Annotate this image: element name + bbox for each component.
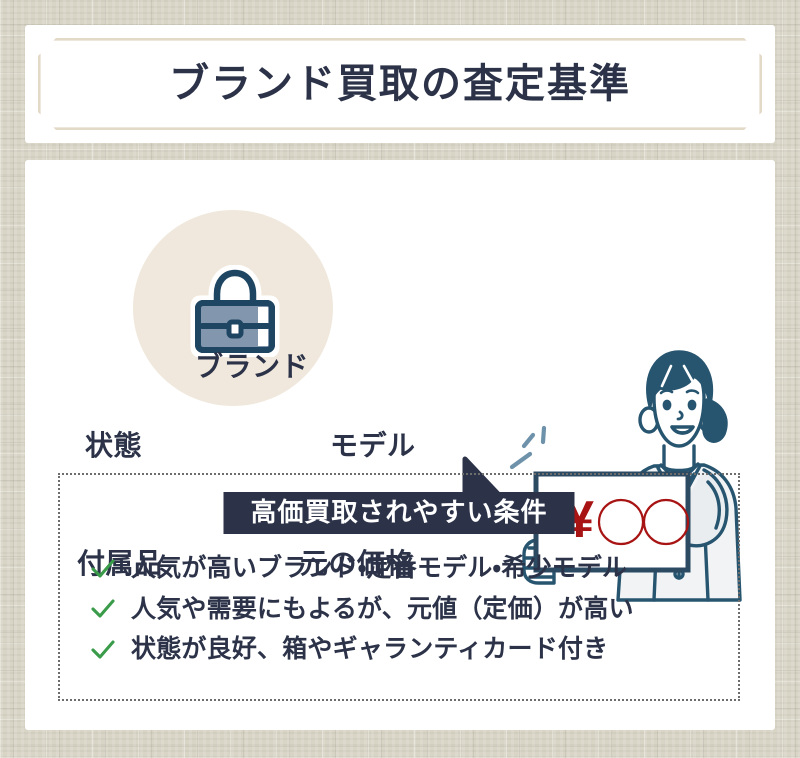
- check-icon: [90, 556, 116, 582]
- assessment-criteria-illustration: ブランド 状態 モデル 付属品 元の価格: [25, 160, 775, 450]
- handbag-icon: [190, 265, 280, 357]
- conditions-list: 人気が高いブランド・定番モデル・希少モデル 人気や需要にもよるが、元値（定価）が…: [90, 555, 730, 664]
- condition-text: 人気が高いブランド・定番モデル・希少モデル: [131, 555, 627, 583]
- list-item: 人気や需要にもよるが、元値（定価）が高い: [90, 596, 730, 624]
- page-title: ブランド買取の査定基準: [25, 25, 775, 143]
- keyword-state: 状態: [85, 432, 142, 460]
- check-icon: [90, 637, 116, 663]
- check-icon: [90, 596, 116, 622]
- main-card: ブランド 状態 モデル 付属品 元の価格: [25, 160, 775, 730]
- conditions-panel: 高価買取されやすい条件 人気が高いブランド・定番モデル・希少モデル 人気や需要に…: [58, 473, 740, 701]
- list-item: 状態が良好、箱やギャランティカード付き: [90, 636, 730, 664]
- header-card: ブランド買取の査定基準: [25, 25, 775, 143]
- condition-text: 状態が良好、箱やギャランティカード付き: [131, 636, 608, 664]
- conditions-heading: 高価買取されやすい条件: [223, 492, 574, 534]
- condition-text: 人気や需要にもよるが、元値（定価）が高い: [131, 596, 634, 624]
- sparkle-lines-icon: [512, 428, 544, 467]
- list-item: 人気が高いブランド・定番モデル・希少モデル: [90, 555, 730, 583]
- keyword-brand: ブランド: [195, 353, 309, 381]
- keyword-model: モデル: [330, 432, 416, 460]
